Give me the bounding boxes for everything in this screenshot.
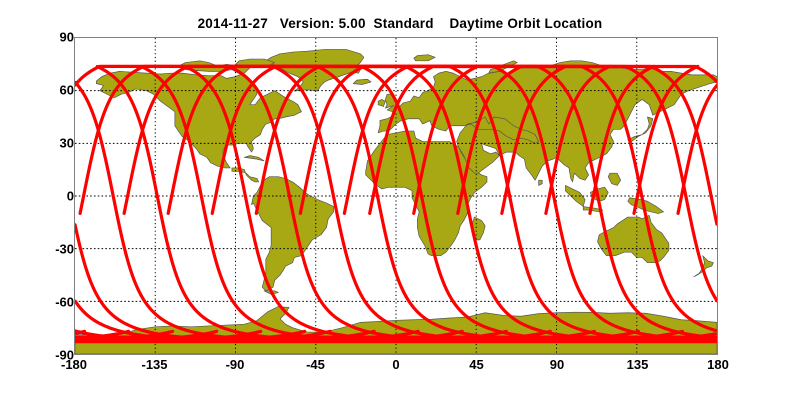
map-plot-area [74,37,718,355]
y-tick-label: 0 [14,189,74,204]
y-tick-label: -30 [14,242,74,257]
page-title: 2014-11-27 Version: 5.00 Standard Daytim… [0,16,800,31]
x-tick-label: -45 [276,357,356,372]
plot-inner [75,38,717,354]
y-tick-label: 90 [14,30,74,45]
orbit-ground-track [273,67,594,340]
orbit-ground-track [546,66,610,213]
orbit-track-layer [75,38,717,354]
y-tick-label: 60 [14,83,74,98]
x-tick-label: 90 [517,357,597,372]
orbit-ground-track [590,66,654,213]
x-tick-label: 45 [437,357,517,372]
x-tick-label: -90 [195,357,275,372]
orbit-ground-track [75,225,330,340]
orbit-ground-track [75,82,374,339]
orbit-ground-track [229,67,550,340]
y-tick-label: 30 [14,136,74,151]
orbit-ground-track [634,66,698,213]
y-tick-label: -60 [14,295,74,310]
orbit-ground-track [300,66,715,330]
x-tick-label: -180 [34,357,114,372]
x-tick-label: -135 [115,357,195,372]
orbit-ground-track [212,66,714,339]
orbit-ground-track [502,66,566,213]
x-tick-label: 135 [598,357,678,372]
x-tick-label: 0 [356,357,436,372]
x-tick-label: 180 [678,357,758,372]
orbit-location-figure: 2014-11-27 Version: 5.00 Standard Daytim… [0,0,800,400]
orbit-ground-track [458,66,522,213]
